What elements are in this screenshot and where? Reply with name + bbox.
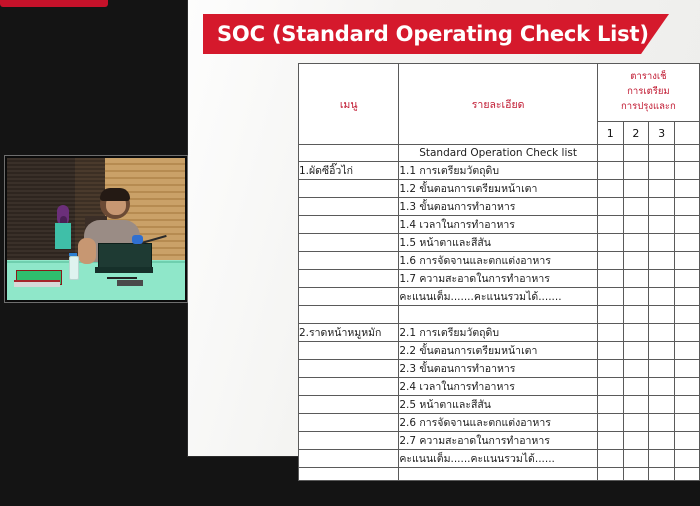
cell-subtitle: Standard Operation Check list (399, 145, 597, 162)
cell-menu (299, 413, 399, 431)
cell-score-2 (623, 449, 649, 467)
table-header-row: เมนู รายละเอียด ตารางเช็ การเตรียม การปร… (299, 64, 700, 122)
cell-score-4 (675, 180, 700, 198)
cell-score-4 (675, 162, 700, 180)
cell-menu (299, 377, 399, 395)
cell-score-2 (623, 431, 649, 449)
cell-detail: 2.6 การจัดจานและตกแต่งอาหาร (399, 413, 597, 431)
cell-score-1 (597, 449, 623, 467)
cable (107, 277, 137, 279)
cell-score-2 (623, 341, 649, 359)
cell-score-3 (649, 341, 675, 359)
cell-score-2 (623, 234, 649, 252)
table-row-total: คะแนนเต็ม......คะแนนรวมได้...... (299, 449, 700, 467)
cell-score-4 (675, 431, 700, 449)
cell-score-3 (649, 467, 675, 480)
cell-score-2 (623, 395, 649, 413)
cell-score-1 (597, 467, 623, 480)
table-row: 2.7 ความสะอาดในการทำอาหาร (299, 431, 700, 449)
slide-title-banner: SOC (Standard Operating Check List) (203, 14, 669, 54)
cell-menu (299, 180, 399, 198)
cell-menu (299, 431, 399, 449)
column-header-num-4 (675, 122, 700, 145)
cell-score-2 (623, 180, 649, 198)
cell-score-3 (649, 431, 675, 449)
cell-detail: 1.2 ขั้นตอนการเตรียมหน้าเตา (399, 180, 597, 198)
cell-total-group-2: คะแนนเต็ม......คะแนนรวมได้...... (399, 449, 597, 467)
cell-score-3 (649, 252, 675, 270)
cell-score-2 (623, 288, 649, 306)
cell-score-3 (649, 359, 675, 377)
cell-menu (299, 359, 399, 377)
cell-detail: 2.5 หน้าตาและสีสัน (399, 395, 597, 413)
cell-score-3 (649, 180, 675, 198)
table-row: 2.6 การจัดจานและตกแต่งอาหาร (299, 413, 700, 431)
table-row-subtitle: Standard Operation Check list (299, 145, 700, 162)
column-header-num-2: 2 (623, 122, 649, 145)
cell-score-2 (623, 359, 649, 377)
cell-score-4 (675, 198, 700, 216)
cell-score-3 (649, 270, 675, 288)
vase (55, 223, 71, 249)
cell-score-3 (649, 216, 675, 234)
cell-score-3 (649, 306, 675, 323)
group-header-line-2: การเตรียม (598, 85, 699, 100)
table-row: 1.6 การจัดจานและตกแต่งอาหาร (299, 252, 700, 270)
video-frame (7, 158, 185, 300)
cell-menu (299, 145, 399, 162)
cell-score-3 (649, 377, 675, 395)
cell-score-4 (675, 413, 700, 431)
column-header-num-1: 1 (597, 122, 623, 145)
slide-red-sliver (0, 0, 108, 7)
table-row: 1.4 เวลาในการทำอาหาร (299, 216, 700, 234)
slide-title: SOC (Standard Operating Check List) (203, 22, 649, 46)
table-row: 1.3 ขั้นตอนการทำอาหาร (299, 198, 700, 216)
cell-score-4 (675, 216, 700, 234)
cell-score-2 (623, 377, 649, 395)
table-row-spacer (299, 306, 700, 323)
cell-detail: 2.1 การเตรียมวัตถุดิบ (399, 323, 597, 341)
cell-score-2 (623, 145, 649, 162)
cell-score-2 (623, 413, 649, 431)
presenter-video-thumbnail[interactable] (4, 155, 188, 303)
cell-score-4 (675, 234, 700, 252)
cell-score-1 (597, 341, 623, 359)
table-row-spacer (299, 467, 700, 480)
presenter-hair (100, 188, 130, 201)
cell-score-1 (597, 145, 623, 162)
cell-score-1 (597, 270, 623, 288)
cell-detail: 2.4 เวลาในการทำอาหาร (399, 377, 597, 395)
cell-score-4 (675, 288, 700, 306)
cell-score-4 (675, 359, 700, 377)
cell-score-1 (597, 162, 623, 180)
cell-detail (399, 306, 597, 323)
cell-score-4 (675, 449, 700, 467)
table-row: 2.4 เวลาในการทำอาหาร (299, 377, 700, 395)
cell-menu (299, 467, 399, 480)
cell-score-2 (623, 216, 649, 234)
cell-menu (299, 288, 399, 306)
column-header-group: ตารางเช็ การเตรียม การปรุงและก (597, 64, 699, 122)
cell-menu (299, 449, 399, 467)
cell-score-1 (597, 234, 623, 252)
cell-score-3 (649, 198, 675, 216)
table-row: 2.5 หน้าตาและสีสัน (299, 395, 700, 413)
cell-detail: 2.3 ขั้นตอนการทำอาหาร (399, 359, 597, 377)
cell-score-1 (597, 306, 623, 323)
cell-menu (299, 216, 399, 234)
cell-score-1 (597, 377, 623, 395)
cell-score-3 (649, 145, 675, 162)
table-row-total: คะแนนเต็ม.......คะแนนรวมได้....... (299, 288, 700, 306)
cell-menu (299, 306, 399, 323)
cell-score-2 (623, 198, 649, 216)
cell-score-2 (623, 252, 649, 270)
cell-score-4 (675, 270, 700, 288)
cell-score-4 (675, 395, 700, 413)
cell-score-4 (675, 377, 700, 395)
table-row: 1.7 ความสะอาดในการทำอาหาร (299, 270, 700, 288)
table-row: 1.2 ขั้นตอนการเตรียมหน้าเตา (299, 180, 700, 198)
cell-total-group-1: คะแนนเต็ม.......คะแนนรวมได้....... (399, 288, 597, 306)
cell-score-1 (597, 323, 623, 341)
red-folder (14, 280, 60, 287)
cell-menu (299, 198, 399, 216)
cell-score-3 (649, 288, 675, 306)
group-header-line-1: ตารางเช็ (598, 70, 699, 85)
cell-score-1 (597, 395, 623, 413)
cell-detail: 1.4 เวลาในการทำอาหาร (399, 216, 597, 234)
cell-score-3 (649, 395, 675, 413)
presentation-slide: SOC (Standard Operating Check List) เมนู… (188, 0, 700, 456)
table-row: 2.3 ขั้นตอนการทำอาหาร (299, 359, 700, 377)
column-header-detail: รายละเอียด (399, 64, 597, 145)
cell-score-1 (597, 198, 623, 216)
cell-menu-group-2: 2.ราดหน้าหมูหมัก (299, 323, 399, 341)
table-row: 1.ผัดซีอิ๊วไก่ 1.1 การเตรียมวัตถุดิบ (299, 162, 700, 180)
cell-detail: 1.7 ความสะอาดในการทำอาหาร (399, 270, 597, 288)
screen-capture: SOC (Standard Operating Check List) เมนู… (0, 0, 700, 506)
presenter-arm (78, 238, 96, 264)
cell-menu (299, 395, 399, 413)
column-header-num-3: 3 (649, 122, 675, 145)
cell-score-2 (623, 323, 649, 341)
laptop-base (95, 267, 153, 273)
water-bottle (69, 256, 79, 280)
table-row: 2.2 ขั้นตอนการเตรียมหน้าเตา (299, 341, 700, 359)
cell-score-2 (623, 467, 649, 480)
cell-menu (299, 270, 399, 288)
cell-detail (399, 467, 597, 480)
cell-score-4 (675, 467, 700, 480)
soc-check-list-table: เมนู รายละเอียด ตารางเช็ การเตรียม การปร… (298, 63, 700, 481)
cell-score-4 (675, 323, 700, 341)
cell-score-1 (597, 252, 623, 270)
cell-detail: 2.2 ขั้นตอนการเตรียมหน้าเตา (399, 341, 597, 359)
table-row: 2.ราดหน้าหมูหมัก 2.1 การเตรียมวัตถุดิบ (299, 323, 700, 341)
keyboard (117, 280, 143, 286)
cell-score-2 (623, 306, 649, 323)
cell-detail: 1.3 ขั้นตอนการทำอาหาร (399, 198, 597, 216)
cell-score-4 (675, 341, 700, 359)
cell-score-4 (675, 252, 700, 270)
cell-score-3 (649, 449, 675, 467)
cell-score-2 (623, 270, 649, 288)
cell-score-3 (649, 162, 675, 180)
cell-score-4 (675, 145, 700, 162)
cell-score-1 (597, 431, 623, 449)
cell-menu (299, 252, 399, 270)
cell-detail: 1.5 หน้าตาและสีสัน (399, 234, 597, 252)
cell-detail: 1.1 การเตรียมวัตถุดิบ (399, 162, 597, 180)
cell-menu (299, 341, 399, 359)
cell-menu-group-1: 1.ผัดซีอิ๊วไก่ (299, 162, 399, 180)
cell-score-3 (649, 234, 675, 252)
cell-score-4 (675, 306, 700, 323)
table-row: 1.5 หน้าตาและสีสัน (299, 234, 700, 252)
cell-score-2 (623, 162, 649, 180)
cell-score-1 (597, 180, 623, 198)
column-header-menu: เมนู (299, 64, 399, 145)
cell-score-1 (597, 359, 623, 377)
cell-score-1 (597, 288, 623, 306)
cell-detail: 1.6 การจัดจานและตกแต่งอาหาร (399, 252, 597, 270)
cell-menu (299, 234, 399, 252)
cell-detail: 2.7 ความสะอาดในการทำอาหาร (399, 431, 597, 449)
group-header-line-3: การปรุงและก (598, 100, 699, 115)
cell-score-3 (649, 323, 675, 341)
cell-score-1 (597, 413, 623, 431)
cell-score-1 (597, 216, 623, 234)
cell-score-3 (649, 413, 675, 431)
microphone-icon (132, 235, 143, 244)
